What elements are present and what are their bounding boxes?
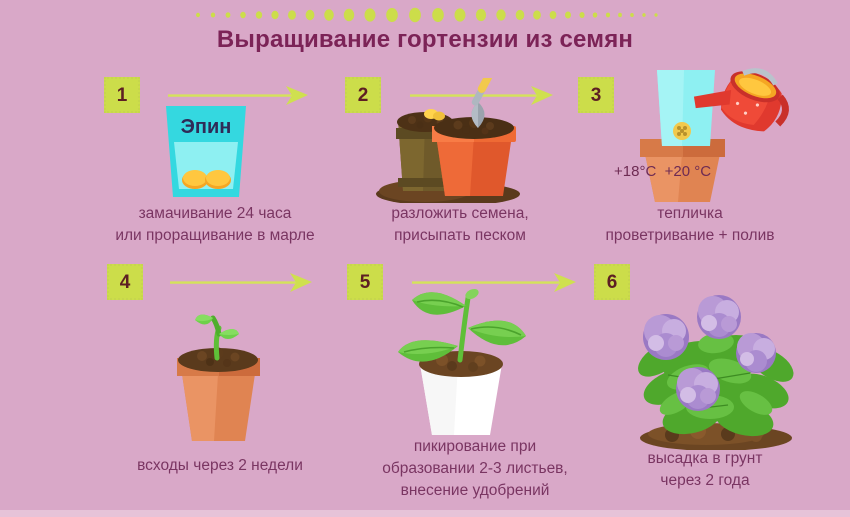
bottom-strip: [0, 510, 850, 517]
step-caption-3: тепличка проветривание + полив: [560, 203, 820, 247]
pots-soil-trowel-icon: [370, 78, 545, 203]
step-caption-6: высадка в грунт через 2 года: [600, 448, 810, 492]
arrow-step4-to-step5: [170, 271, 317, 293]
page-title: Выращивание гортензии из семян: [0, 26, 850, 54]
step-badge-4: 4: [107, 264, 143, 300]
step-caption-5: пикирование при образовании 2-3 листьев,…: [355, 436, 595, 502]
greenhouse-cup-watering-can-icon: [610, 62, 800, 202]
step-caption-2: разложить семена, присыпать песком: [345, 203, 575, 247]
step-caption-4: всходы через 2 недели: [95, 455, 345, 477]
temperature-label: +18°C +20 °C: [614, 163, 711, 180]
soaking-glass-icon: Эпин: [160, 104, 252, 199]
epin-label: Эпин: [181, 116, 232, 138]
infographic-canvas: Выращивание гортензии из семян 1 2 3 4 5…: [0, 0, 850, 517]
step-caption-1: замачивание 24 часа или проращивание в м…: [85, 203, 345, 247]
step-badge-5: 5: [347, 264, 383, 300]
step-badge-3: 3: [578, 77, 614, 113]
dotted-divider: [0, 6, 850, 24]
sprout-in-pot-icon: [157, 296, 277, 441]
hydrangea-bush-icon: [610, 275, 825, 450]
step-badge-1: 1: [104, 77, 140, 113]
seedling-white-pot-icon: [380, 272, 540, 437]
arrow-step1-to-step2: [168, 84, 313, 106]
